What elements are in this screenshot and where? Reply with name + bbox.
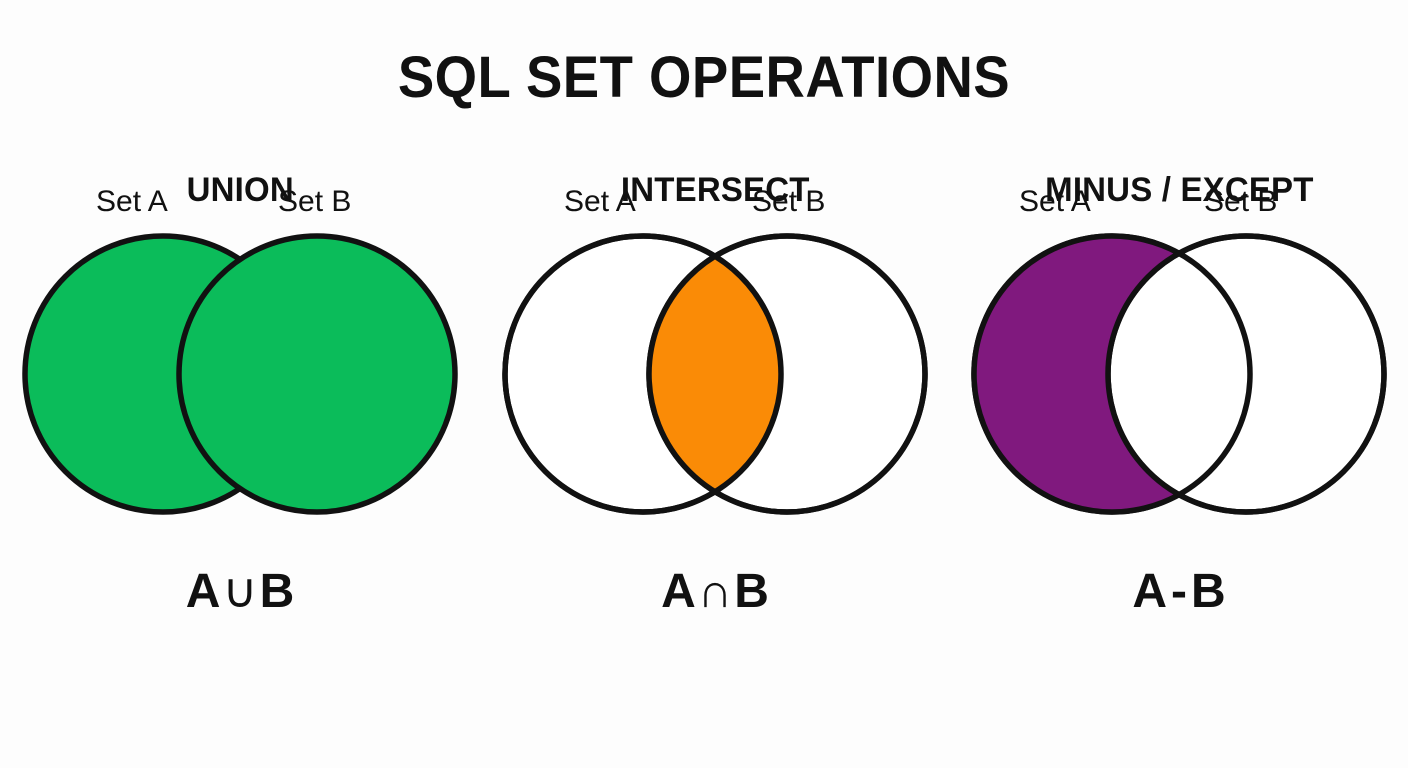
formula-minus-b: B [1191,565,1226,618]
panel-intersect: INTERSECT Set A Set B [480,155,950,715]
venn-diagram-intersect [500,228,930,520]
formula-minus: A-B [1132,568,1225,616]
venn-minus: Set A Set B [969,228,1389,520]
formula-union-a: A [186,565,221,618]
formula-minus-a: A [1132,565,1167,618]
formula-union-b: B [260,565,295,618]
set-b-label-minus: Set B [1204,187,1277,217]
set-a-label-minus: Set A [1019,187,1091,217]
venn-diagram-union [20,228,460,520]
circle-b-union [179,236,455,512]
venn-diagram-minus [969,228,1389,520]
panels-row: UNION Set A Set B A∪B INTERSECT Set A Se… [0,155,1408,715]
set-b-label-union: Set B [278,187,351,217]
set-b-label-intersect: Set B [752,187,825,217]
set-a-label-intersect: Set A [564,187,636,217]
set-a-label-union: Set A [96,187,168,217]
page-title: SQL SET OPERATIONS [42,44,1366,111]
formula-intersect-b: B [734,565,769,618]
panel-minus-except: MINUS / EXCEPT Set A Set B [950,155,1408,715]
minus-operator-icon: - [1167,565,1191,618]
a-minus-b-crescent [969,228,1389,520]
union-operator-icon: ∪ [220,565,259,618]
venn-union: Set A Set B [20,228,460,520]
intersect-operator-icon: ∩ [696,565,735,618]
venn-intersect: Set A Set B [500,228,930,520]
formula-intersect: A∩B [661,568,769,616]
formula-intersect-a: A [661,565,696,618]
poster-canvas: SQL SET OPERATIONS UNION Set A Set B A∪B… [0,0,1408,768]
formula-union: A∪B [186,568,294,616]
panel-union: UNION Set A Set B A∪B [0,155,480,715]
